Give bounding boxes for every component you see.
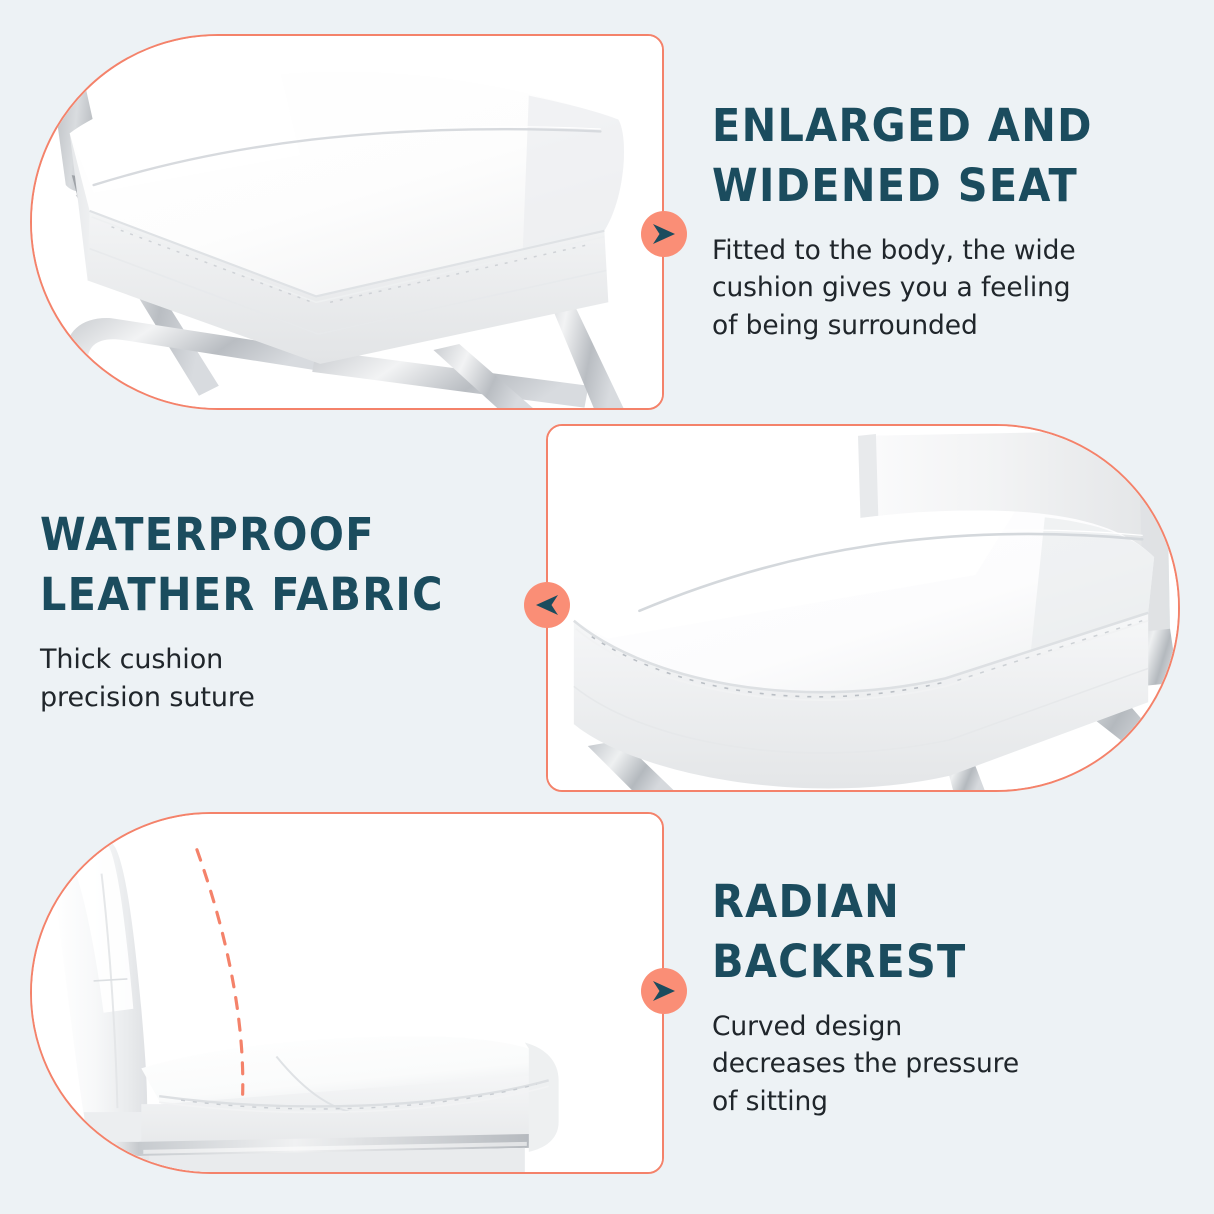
feature-panel-radian-backrest xyxy=(30,812,664,1174)
feature-title: RADIAN BACKREST xyxy=(712,872,1144,992)
feature-image-enlarged-widened-seat xyxy=(32,36,662,410)
infographic-canvas: ENLARGED AND WIDENED SEAT Fitted to the … xyxy=(0,0,1214,1214)
feature-panel-waterproof-leather-fabric xyxy=(546,424,1180,792)
feature-title: ENLARGED AND WIDENED SEAT xyxy=(712,96,1144,216)
feature-panel-enlarged-widened-seat xyxy=(30,34,664,410)
feature-description: Curved design decreases the pressure of … xyxy=(712,1008,1182,1121)
feature-text-waterproof-leather-fabric: WATERPROOF LEATHER FABRIC Thick cushion … xyxy=(40,505,530,717)
feature-description: Thick cushion precision suture xyxy=(40,641,530,718)
feature-image-waterproof-leather-fabric xyxy=(548,426,1178,792)
arrow-left-icon xyxy=(524,582,570,628)
feature-text-radian-backrest: RADIAN BACKREST Curved design decreases … xyxy=(712,872,1182,1121)
feature-title: WATERPROOF LEATHER FABRIC xyxy=(40,505,491,625)
arrow-right-icon xyxy=(641,968,687,1014)
feature-text-enlarged-widened-seat: ENLARGED AND WIDENED SEAT Fitted to the … xyxy=(712,96,1182,345)
arrow-right-icon xyxy=(641,211,687,257)
feature-image-radian-backrest xyxy=(32,814,662,1174)
feature-description: Fitted to the body, the wide cushion giv… xyxy=(712,232,1182,345)
